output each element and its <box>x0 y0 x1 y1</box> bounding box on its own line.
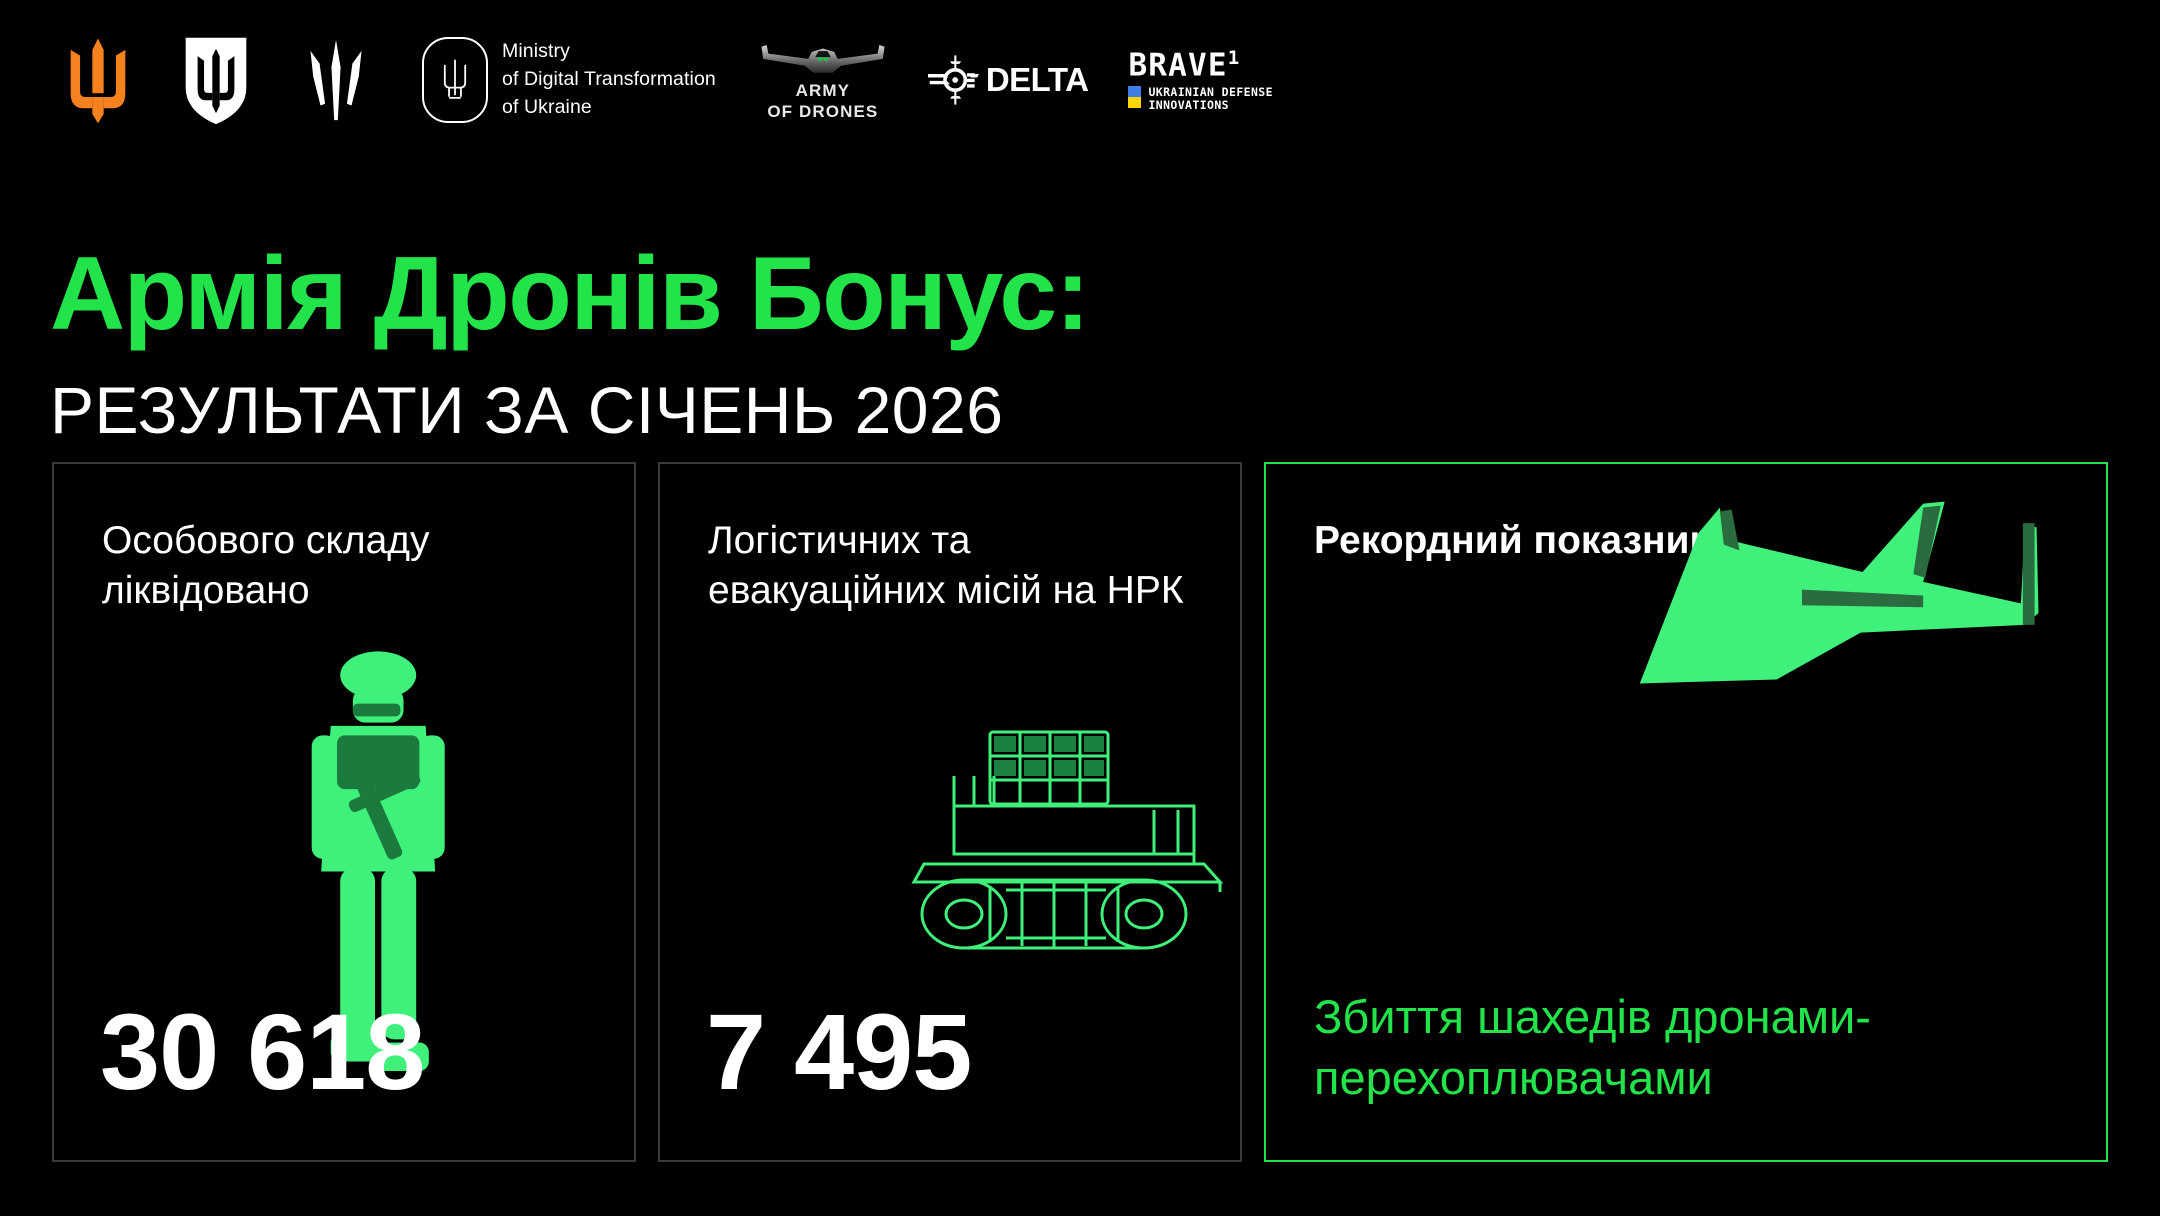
ministry-line-1: Ministry <box>502 38 716 66</box>
tryzub-orange-icon <box>50 30 146 130</box>
brave1-sub-line-1: UKRAINIAN DEFENSE <box>1148 86 1273 98</box>
brave1-wordmark: BRAVE1 <box>1128 49 1240 81</box>
ukraine-flag-icon <box>1128 86 1141 111</box>
stat-card-personnel-value: 30 618 <box>100 998 424 1106</box>
brave1-subtitle: UKRAINIAN DEFENSE INNOVATIONS <box>1148 86 1273 111</box>
aod-line-1: ARMY <box>767 81 878 101</box>
brave1-sub-line-2: INNOVATIONS <box>1148 99 1273 111</box>
ministry-label: Ministry of Digital Transformation of Uk… <box>502 38 716 121</box>
shahed-interceptor-drone-illustration <box>1630 488 2060 713</box>
ministry-of-digital-transformation-logo: Ministry of Digital Transformation of Uk… <box>422 37 716 123</box>
delta-wordmark: DELTA <box>986 61 1089 99</box>
stat-card-logistics: Логістичних та евакуаційних місій на НРК <box>658 462 1242 1162</box>
page-subtitle: РЕЗУЛЬТАТИ ЗА СІЧЕНЬ 2026 <box>50 377 1003 443</box>
stat-card-personnel: Особового складу ліквідовано 30 618 <box>52 462 636 1162</box>
delta-winged-target-icon <box>928 53 984 107</box>
ministry-tryzub-badge-icon <box>422 37 488 123</box>
stats-card-row: Особового складу ліквідовано 30 618 <box>52 462 2108 1162</box>
page-title: Армія Дронів Бонус: <box>50 242 1089 346</box>
delta-logo: DELTA <box>928 53 1089 107</box>
brave1-logo: BRAVE1 UKRAINIAN DEFENSE INNOVATIONS <box>1128 49 1273 111</box>
spear-emblem-icon <box>290 30 382 130</box>
drone-silhouette-icon <box>758 38 888 78</box>
stat-card-logistics-value: 7 495 <box>706 998 971 1106</box>
shield-tryzub-icon <box>168 30 264 130</box>
brave1-word: BRAVE <box>1128 47 1227 83</box>
army-of-drones-logo: ARMY OF DRONES <box>758 38 888 121</box>
brave1-superscript: 1 <box>1228 47 1241 69</box>
logo-bar: Ministry of Digital Transformation of Uk… <box>50 30 1273 130</box>
ministry-line-2: of Digital Transformation <box>502 66 716 94</box>
stat-card-record: Рекордний показник Збиття шахедів дронам… <box>1264 462 2108 1162</box>
stat-card-personnel-label: Особового складу ліквідовано <box>102 516 594 616</box>
ministry-line-3: of Ukraine <box>502 94 716 122</box>
aod-line-2: OF DRONES <box>767 102 878 122</box>
army-of-drones-label: ARMY OF DRONES <box>767 81 878 121</box>
ugv-illustration <box>894 714 1242 974</box>
stat-card-logistics-label: Логістичних та евакуаційних місій на НРК <box>708 516 1200 616</box>
stat-card-record-value: Збиття шахедів дронами-перехоплювачами <box>1314 986 2066 1108</box>
